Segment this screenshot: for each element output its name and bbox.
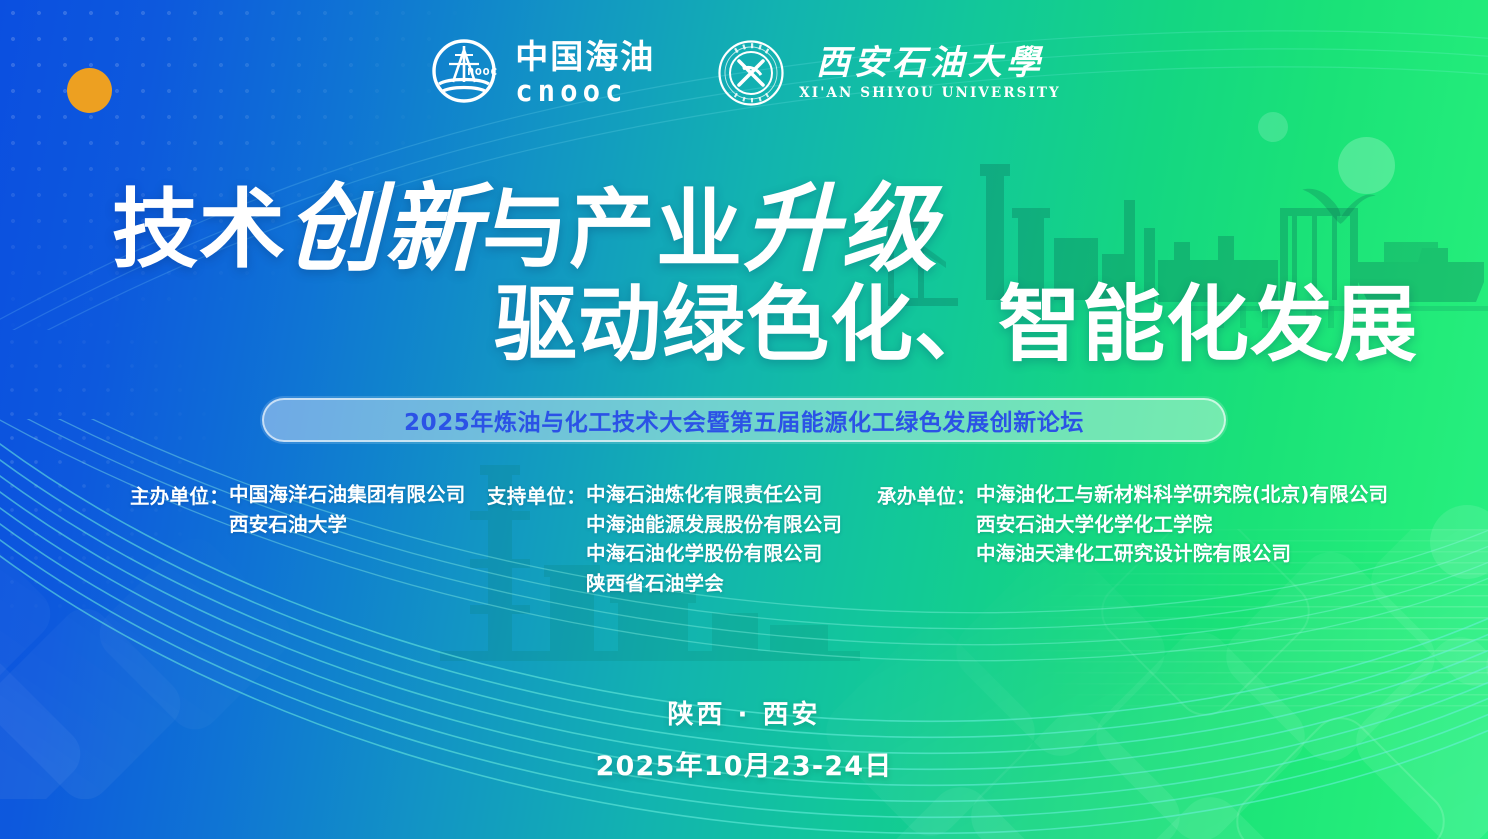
event-date: 2025年10月23-24日 xyxy=(596,744,893,783)
xsyu-english-name: XI'AN SHIYOU UNIVERSITY xyxy=(799,87,1061,101)
organizers-section: 主办单位： 中国海洋石油集团有限公司 西安石油大学 支持单位： 中海石油炼化有限… xyxy=(0,480,1488,600)
organizer-item: 陕西省石油学会 xyxy=(586,569,842,599)
cnooc-logo: nooc 中国海油 cnooc xyxy=(427,38,655,108)
headline-seg: 技术 xyxy=(112,188,286,272)
headline: 技术 创新 与产业 升级 驱动绿色化、智能化发展 xyxy=(0,178,1488,365)
subtitle-text: 2025年炼油与化工技术大会暨第五届能源化工绿色发展创新论坛 xyxy=(404,403,1084,437)
headline-seg: 升级 xyxy=(743,182,939,276)
event-location: 陕西 · 西安 xyxy=(668,694,821,731)
organizer-group-organizer: 承办单位： 中海油化工与新材料科学研究院(北京)有限公司 西安石油大学化学化工学… xyxy=(877,480,1388,569)
headline-seg: 驱动绿色化、智能化发展 xyxy=(494,284,1418,365)
event-footer: 陕西 · 西安 2025年10月23-24日 xyxy=(0,694,1488,783)
conference-banner: nooc 中国海油 cnooc xyxy=(0,0,1488,839)
organizer-item: 中海石油炼化有限责任公司 xyxy=(586,480,842,510)
headline-line-1: 技术 创新 与产业 升级 xyxy=(0,178,1488,272)
organizer-item: 中海油化工与新材料科学研究院(北京)有限公司 xyxy=(976,480,1388,510)
organizer-values: 中国海洋石油集团有限公司 西安石油大学 xyxy=(229,480,465,539)
xian-shiyou-university-seal-icon xyxy=(717,39,785,107)
organizer-item: 中海油能源发展股份有限公司 xyxy=(586,510,842,540)
organizer-item: 西安石油大学化学化工学院 xyxy=(976,510,1388,540)
xian-shiyou-university-logo: 西安石油大學 XI'AN SHIYOU UNIVERSITY xyxy=(717,39,1061,107)
organizer-values: 中海油化工与新材料科学研究院(北京)有限公司 西安石油大学化学化工学院 中海油天… xyxy=(976,480,1388,569)
organizer-values: 中海石油炼化有限责任公司 中海油能源发展股份有限公司 中海石油化学股份有限公司 … xyxy=(586,480,842,599)
organizer-label: 支持单位： xyxy=(487,480,586,509)
organizer-item: 中海油天津化工研究设计院有限公司 xyxy=(976,539,1388,569)
cnooc-english-name: cnooc xyxy=(515,77,655,106)
organizer-item: 中海石油化学股份有限公司 xyxy=(586,539,842,569)
cnooc-chinese-name: 中国海油 xyxy=(515,40,655,73)
organizer-label: 主办单位： xyxy=(130,480,229,509)
organizer-item: 西安石油大学 xyxy=(229,510,465,540)
organizer-group-host: 主办单位： 中国海洋石油集团有限公司 西安石油大学 xyxy=(130,480,465,539)
cnooc-emblem-icon: nooc xyxy=(427,38,501,108)
organizer-item: 中国海洋石油集团有限公司 xyxy=(229,480,465,510)
logo-row: nooc 中国海油 cnooc xyxy=(0,38,1488,108)
organizer-group-support: 支持单位： 中海石油炼化有限责任公司 中海油能源发展股份有限公司 中海石油化学股… xyxy=(487,480,842,599)
svg-text:nooc: nooc xyxy=(467,64,498,78)
organizer-label: 承办单位： xyxy=(877,480,976,509)
headline-seg: 创新 xyxy=(286,182,482,276)
xsyu-chinese-name: 西安石油大學 xyxy=(816,46,1044,80)
headline-line-2: 驱动绿色化、智能化发展 xyxy=(0,284,1488,365)
headline-seg: 与产业 xyxy=(482,188,743,272)
subtitle-pill: 2025年炼油与化工技术大会暨第五届能源化工绿色发展创新论坛 xyxy=(262,398,1226,442)
